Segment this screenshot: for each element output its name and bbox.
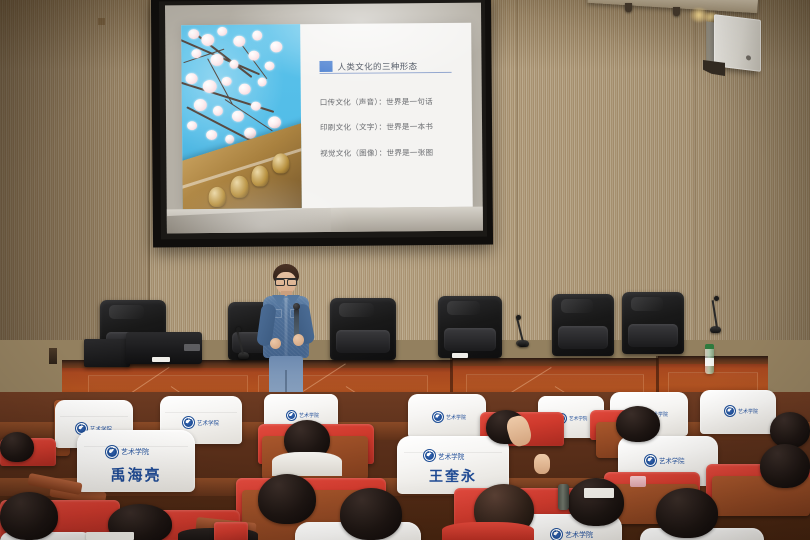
audience-head (340, 488, 402, 540)
blossom (194, 99, 207, 111)
chair-cover[interactable]: 艺术学院 (700, 390, 776, 434)
blossom (270, 41, 282, 52)
papers (452, 353, 468, 358)
blossom (206, 130, 217, 140)
audience-shoulder (272, 452, 342, 476)
seat-occupant-name: 王奎永 (397, 466, 509, 486)
water-bottle (705, 348, 714, 374)
audience-head (568, 478, 624, 526)
chair-cover-named[interactable]: 艺术学院 禹海亮 (77, 430, 195, 492)
blossom (222, 76, 232, 85)
cover-crease (60, 416, 129, 417)
laptop (84, 339, 130, 367)
roof-ornament (209, 187, 226, 207)
art-academy-logo-icon (724, 405, 736, 417)
screen-lower-band (167, 207, 483, 234)
chair-highlight (339, 303, 373, 317)
roof-ornament (230, 176, 248, 198)
paper-sheet (584, 488, 614, 498)
art-academy-logo-icon (286, 410, 297, 421)
paper-sheet (86, 532, 134, 540)
roof-ornament (251, 165, 268, 186)
chair-cover-logo: 艺术学院 (432, 411, 466, 423)
table-microphone-head (714, 296, 719, 301)
audience-head (770, 412, 810, 448)
institution-name: 艺术学院 (565, 530, 593, 540)
bottle-cap (705, 344, 714, 349)
screen-band-shadow (167, 208, 332, 233)
presenter-hand-left (270, 338, 281, 349)
slide-bullet-2: 印刷文化（文字）：世界是一本书 (320, 121, 433, 133)
blossom (253, 30, 263, 40)
audience-seating: 艺术学院 艺术学院 艺术学院 艺术学院 艺术学院 (0, 392, 810, 540)
papers (152, 357, 170, 362)
shirt-placket (285, 298, 288, 358)
table-microphone-base (516, 340, 525, 346)
chair-highlight (561, 299, 593, 313)
audience-head (0, 492, 58, 540)
bag-label (184, 344, 200, 351)
art-academy-logo-icon (105, 445, 119, 459)
water-bottle (558, 484, 569, 510)
institution-name: 艺术学院 (659, 456, 685, 465)
projection-screen: 人类文化的三种形态 口传文化（声音）：世界是一句话 印刷文化（文字）：世界是一本… (151, 0, 493, 247)
blossom (265, 61, 275, 70)
blossom (191, 49, 201, 58)
audience-head (616, 406, 660, 442)
art-academy-logo-icon (182, 416, 195, 429)
slide-text-area: 人类文化的三种形态 口传文化（声音）：世界是一句话 印刷文化（文字）：世界是一本… (306, 23, 473, 208)
institution-name: 艺术学院 (569, 416, 587, 422)
presenter (255, 264, 317, 402)
audience-head (656, 488, 718, 538)
lecture-hall-scene: 人类文化的三种形态 口传文化（声音）：世界是一句话 印刷文化（文字）：世界是一本… (0, 0, 810, 540)
table-microphone-head (236, 327, 241, 332)
blossom (188, 29, 199, 39)
chair-highlight (447, 301, 480, 315)
pink-item (630, 476, 646, 487)
stage-chair (552, 294, 614, 356)
ceiling-track-light-icon (673, 7, 680, 16)
chair-cover-logo: 艺术学院 (644, 454, 685, 467)
stage-chair (622, 292, 684, 354)
chair-cover-logo: 艺术学院 (724, 405, 758, 417)
audience-head (760, 444, 810, 488)
chair-highlight (109, 305, 143, 319)
chair-cover[interactable]: 艺术学院 (408, 394, 486, 438)
chair-cover-logo: 艺术学院 (550, 528, 593, 540)
title-bullet-square (319, 61, 332, 72)
gavel (49, 348, 57, 364)
art-academy-logo-icon (550, 528, 563, 540)
institution-name: 艺术学院 (738, 408, 758, 415)
audience-arm (534, 454, 550, 474)
chair-cover-logo: 艺术学院 (182, 416, 219, 429)
roof-ornament (273, 153, 290, 173)
speaker-port (746, 55, 751, 61)
screen-surface: 人类文化的三种形态 口传文化（声音）：世界是一句话 印刷文化（文字）：世界是一本… (165, 3, 483, 234)
slide-photo (181, 24, 301, 209)
art-academy-logo-icon (644, 454, 657, 467)
chair-highlight (631, 297, 663, 311)
slide-title: 人类文化的三种形态 (337, 60, 417, 73)
bottle-label (705, 358, 714, 366)
chair-cover-logo: 艺术学院 (105, 445, 149, 459)
institution-name: 艺术学院 (121, 447, 149, 457)
seat-occupant-name: 禹海亮 (77, 464, 195, 485)
art-academy-logo-icon (423, 449, 436, 462)
blossom (213, 106, 223, 116)
blossom (187, 121, 197, 130)
presenter-hand-right (293, 334, 304, 346)
cover-crease (165, 412, 237, 413)
audience-shoulder (442, 522, 534, 540)
presentation-slide: 人类文化的三种形态 口传文化（声音）：世界是一句话 印刷文化（文字）：世界是一本… (181, 23, 473, 210)
audience-head (0, 432, 34, 462)
institution-name: 艺术学院 (299, 412, 319, 419)
institution-name: 艺术学院 (197, 419, 219, 427)
microphone-head (293, 303, 300, 310)
stage-chair (438, 296, 502, 358)
art-academy-logo-icon (432, 411, 444, 423)
blossom (185, 73, 197, 84)
slide-bullet-1: 口传文化（声音）：世界是一句话 (320, 96, 433, 108)
glasses-icon (275, 278, 297, 283)
institution-name: 艺术学院 (438, 451, 464, 461)
wall-fixture-plate (98, 18, 105, 25)
slide-title-row: 人类文化的三种形态 (319, 60, 417, 73)
blossom (248, 50, 259, 60)
blossom (268, 116, 281, 128)
blossom (217, 27, 227, 36)
ceiling-track-light-icon (625, 3, 632, 12)
audience-head (258, 474, 316, 524)
auditorium-seat[interactable] (214, 522, 248, 540)
blossom (229, 60, 238, 69)
stage-chair (330, 298, 396, 360)
slide-bullet-3: 视觉文化（图像）：世界是一张图 (320, 147, 433, 159)
institution-name: 艺术学院 (446, 414, 466, 421)
table-microphone-head (516, 315, 521, 320)
slide-title-rule (319, 72, 451, 74)
blossom (239, 83, 251, 94)
chair-cover-logo: 艺术学院 (423, 449, 464, 462)
